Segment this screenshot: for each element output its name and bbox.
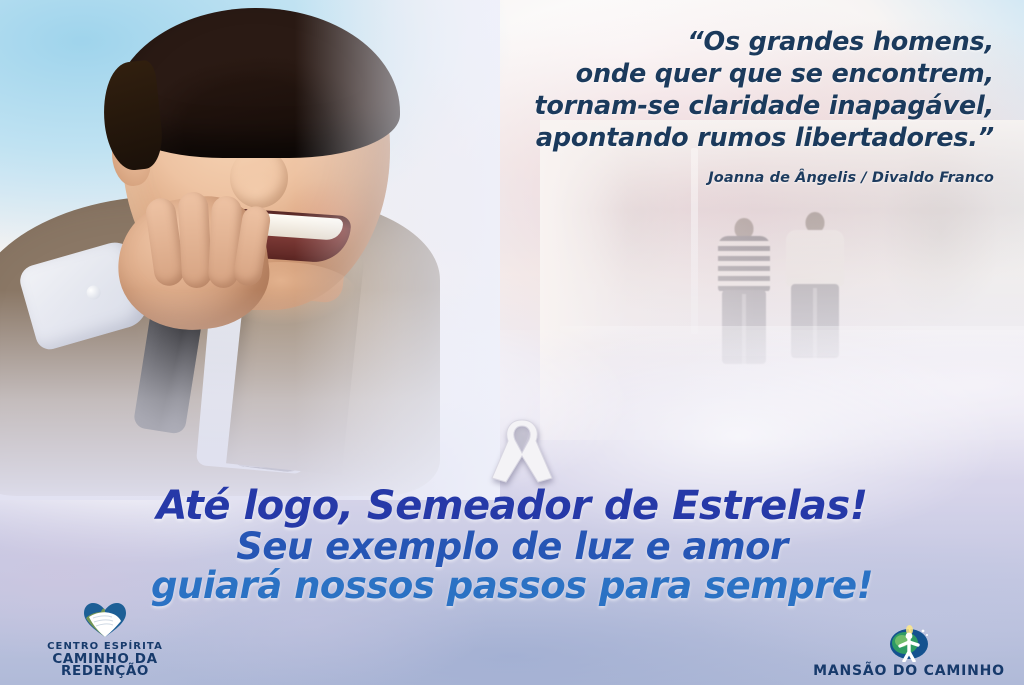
portrait-divaldo-franco [0, 0, 470, 470]
heart-hands-logo-icon [10, 600, 200, 638]
logo-left-line-2: CAMINHO DA REDENÇÃO [10, 653, 200, 677]
headline-line-1: Até logo, Semeador de Estrelas! [0, 486, 1024, 527]
logo-left-text: CENTRO ESPÍRITA CAMINHO DA REDENÇÃO [10, 641, 200, 677]
memorial-poster: “Os grandes homens, onde quer que se enc… [0, 0, 1024, 685]
finger [178, 191, 213, 288]
quote-line-3: tornam-se claridade inapagável, [440, 90, 994, 122]
headline-line-2: Seu exemplo de luz e amor [0, 527, 1024, 566]
white-mourning-ribbon-icon [484, 412, 560, 486]
logo-right-line-1: MANSÃO DO CAMINHO [804, 665, 1014, 677]
logo-mansao-do-caminho[interactable]: MANSÃO DO CAMINHO [804, 624, 1014, 677]
quote-line-2: onde quer que se encontrem, [440, 58, 994, 90]
quote-line-4: apontando rumos libertadores.” [440, 122, 994, 154]
quote-attribution: Joanna de Ângelis / Divaldo Franco [440, 170, 994, 186]
globe-figure-logo-icon [804, 624, 1014, 662]
logo-centro-espirita-caminho-da-redencao[interactable]: CENTRO ESPÍRITA CAMINHO DA REDENÇÃO [10, 600, 200, 677]
headline-block: Até logo, Semeador de Estrelas! Seu exem… [0, 486, 1024, 605]
hair-sideburn [99, 59, 166, 172]
logo-right-text: MANSÃO DO CAMINHO [804, 665, 1014, 677]
quote-text: “Os grandes homens, onde quer que se enc… [440, 26, 994, 154]
quote-line-1: “Os grandes homens, [440, 26, 994, 58]
